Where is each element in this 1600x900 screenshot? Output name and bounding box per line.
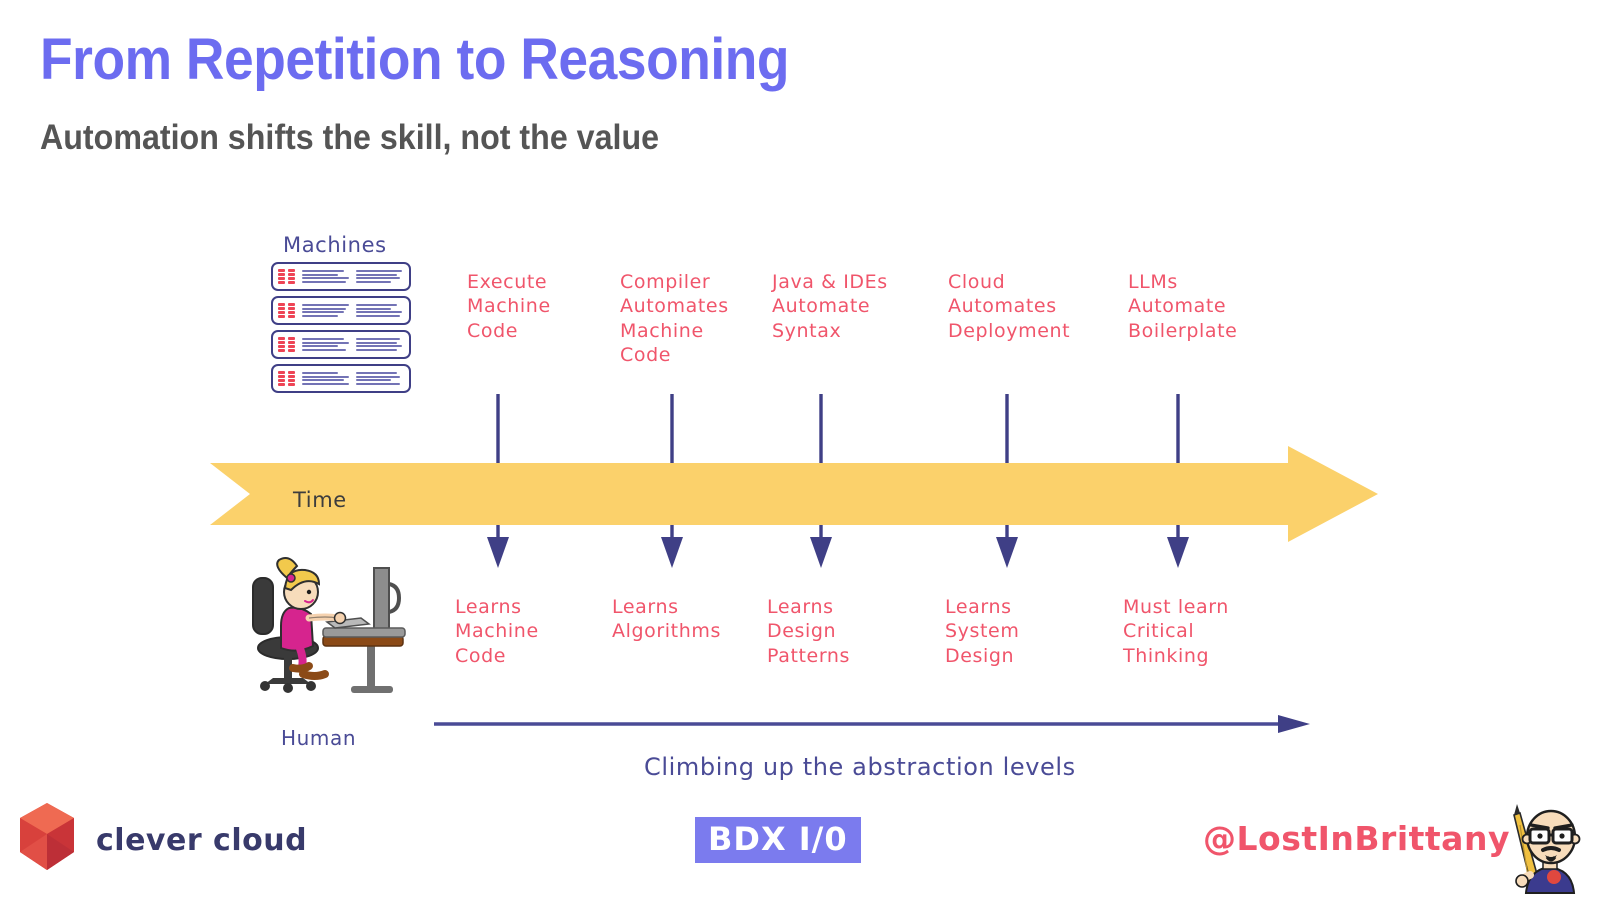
social-handle: @LostInBrittany <box>1203 818 1510 860</box>
human-action-label-3: Learns System Design <box>945 595 1019 668</box>
page-subtitle: Automation shifts the skill, not the val… <box>40 118 659 158</box>
speaker-avatar <box>1496 797 1596 897</box>
machine-action-label-4: LLMs Automate Boilerplate <box>1128 270 1237 343</box>
page-title: From Repetition to Reasoning <box>40 26 789 93</box>
machines-label: Machines <box>283 232 387 259</box>
machine-action-label-0: Execute Machine Code <box>467 270 551 343</box>
human-label: Human <box>281 726 356 752</box>
server-unit <box>271 296 411 325</box>
server-unit <box>271 364 411 393</box>
server-leds <box>278 269 295 283</box>
server-leds <box>278 371 295 385</box>
server-text-lines <box>302 372 404 385</box>
human-action-label-2: Learns Design Patterns <box>767 595 850 668</box>
clever-cloud-wordmark: clever cloud <box>96 823 307 858</box>
server-leds <box>278 303 295 317</box>
bdxio-badge: BDX I/0 <box>695 817 861 863</box>
server-unit <box>271 262 411 291</box>
server-text-lines <box>302 304 404 317</box>
machine-action-label-1: Compiler Automates Machine Code <box>620 270 729 367</box>
abstraction-levels-arrow <box>432 713 1312 735</box>
time-label: Time <box>293 487 347 514</box>
server-unit <box>271 330 411 359</box>
human-at-computer-icon <box>243 556 413 706</box>
abstraction-caption: Climbing up the abstraction levels <box>644 752 1076 783</box>
server-text-lines <box>302 338 404 351</box>
clever-cloud-logo-icon <box>12 800 82 878</box>
human-action-label-4: Must learn Critical Thinking <box>1123 595 1229 668</box>
time-axis-arrow <box>210 446 1380 542</box>
human-action-label-0: Learns Machine Code <box>455 595 539 668</box>
server-text-lines <box>302 270 404 283</box>
machine-action-label-2: Java & IDEs Automate Syntax <box>772 270 888 343</box>
human-action-label-1: Learns Algorithms <box>612 595 721 644</box>
server-rack-icon <box>271 262 411 394</box>
machine-action-label-3: Cloud Automates Deployment <box>948 270 1070 343</box>
slide-canvas: From Repetition to Reasoning Automation … <box>0 0 1600 900</box>
server-leds <box>278 337 295 351</box>
